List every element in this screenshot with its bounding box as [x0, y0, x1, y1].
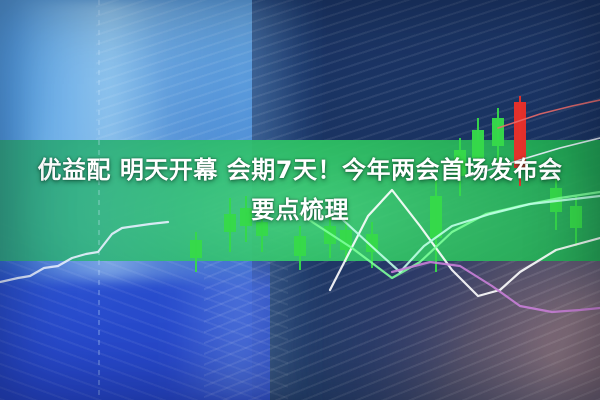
- trendline-white-step-line-left: [0, 222, 168, 282]
- trendline-red-trend-top-right: [498, 100, 600, 128]
- candlestick: [190, 232, 202, 272]
- candlestick: [430, 180, 442, 272]
- candlestick: [454, 138, 466, 196]
- trendline-group-over: [0, 100, 600, 312]
- candlestick: [240, 196, 252, 242]
- trendline-white-trend-right: [470, 138, 600, 176]
- candlestick: [472, 118, 484, 176]
- candlestick: [492, 108, 504, 166]
- candlestick: [550, 178, 562, 230]
- stock-chart-overlay: [0, 0, 600, 400]
- trendline-magenta-line-bottom-right: [392, 262, 600, 312]
- banner-image: 优益配 明天开幕 会期7天！今年两会首场发布会 要点梳理: [0, 0, 600, 400]
- candlestick: [514, 96, 526, 186]
- candlestick: [294, 226, 306, 270]
- candlestick: [570, 196, 582, 246]
- candlestick-group-over: [190, 96, 582, 272]
- candlestick: [256, 212, 268, 252]
- candlestick: [224, 198, 236, 252]
